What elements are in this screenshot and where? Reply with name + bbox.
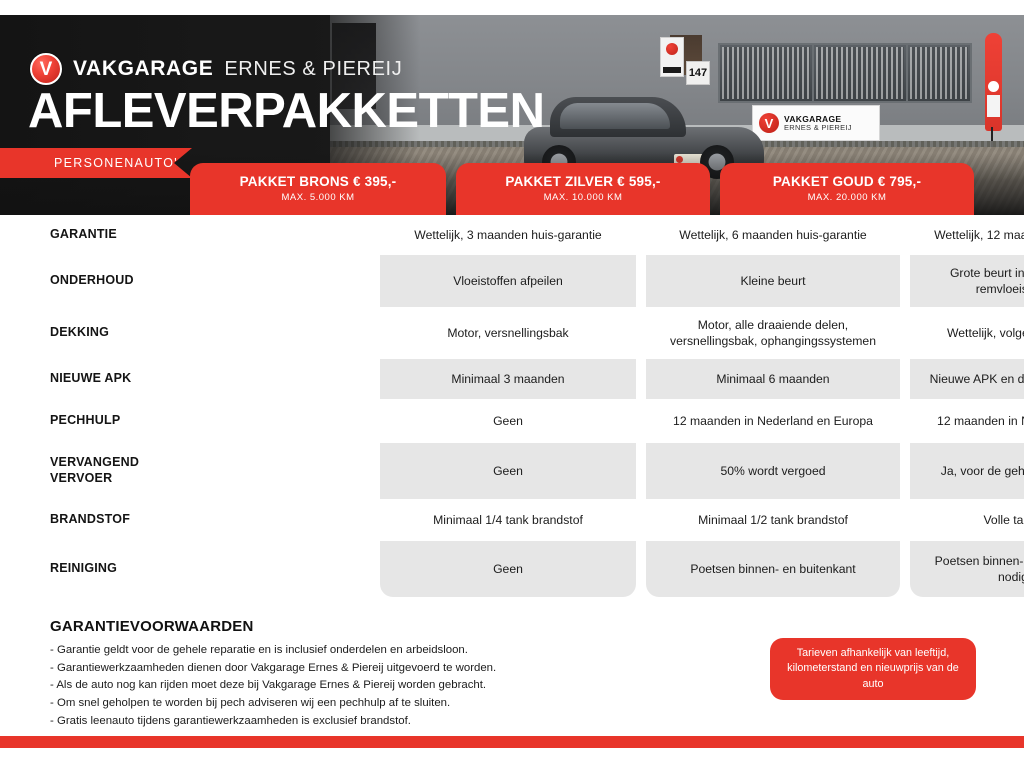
table-cell: Geen xyxy=(380,399,636,443)
shop-banner-sign: VAKGARAGE ERNES & PIEREIJ xyxy=(752,105,880,141)
package-header-goud[interactable]: PAKKET GOUD € 795,- MAX. 20.000 KM xyxy=(720,163,974,215)
list-item: - Garantiewerkzaamheden dienen door Vakg… xyxy=(50,660,610,678)
building-window xyxy=(906,43,972,103)
list-item: - Als de auto nog kan rijden moet deze b… xyxy=(50,677,610,695)
table-row: DEKKING Motor, versnellingsbak Motor, al… xyxy=(0,307,1024,359)
table-cell: Poetsen binnen- en buitenkant, indien no… xyxy=(910,541,1024,597)
table-row: VERVANGEND VERVOER Geen 50% wordt vergoe… xyxy=(0,443,1024,499)
package-header-row: PAKKET BRONS € 395,- MAX. 5.000 KM PAKKE… xyxy=(0,163,1024,215)
table-cell: Motor, alle draaiende delen, versnelling… xyxy=(646,307,900,359)
table-cell: Geen xyxy=(380,443,636,499)
page-title: AFLEVERPAKKETTEN xyxy=(28,87,545,136)
table-cell: Minimaal 3 maanden xyxy=(380,359,636,399)
table-cell: Motor, versnellingsbak xyxy=(380,307,636,359)
row-label: DEKKING xyxy=(0,307,190,359)
table-row: NIEUWE APK Minimaal 3 maanden Minimaal 6… xyxy=(0,359,1024,399)
row-label: GARANTIE xyxy=(0,215,190,255)
conditions-list: - Garantie geldt voor de gehele reparati… xyxy=(50,642,610,730)
table-cell: Volle tank brandstof xyxy=(910,499,1024,541)
table-row: GARANTIE Wettelijk, 3 maanden huis-garan… xyxy=(0,215,1024,255)
package-comparison-table: GARANTIE Wettelijk, 3 maanden huis-garan… xyxy=(0,215,1024,597)
table-cell: 12 maanden in Nederland en Europa xyxy=(646,399,900,443)
package-title: PAKKET ZILVER € 595,- xyxy=(505,174,660,190)
package-header-zilver[interactable]: PAKKET ZILVER € 595,- MAX. 10.000 KM xyxy=(456,163,710,215)
promo-flag xyxy=(985,33,1002,131)
certification-sign-icon xyxy=(660,37,684,77)
tariff-note-badge: Tarieven afhankelijk van leeftijd, kilom… xyxy=(770,638,976,700)
table-cell: Poetsen binnen- en buitenkant xyxy=(646,541,900,597)
table-cell: Wettelijk, volgens Bovag garantie xyxy=(910,307,1024,359)
package-mileage: MAX. 5.000 KM xyxy=(281,193,354,204)
package-header-brons[interactable]: PAKKET BRONS € 395,- MAX. 5.000 KM xyxy=(190,163,446,215)
row-label: REINIGING xyxy=(0,541,190,597)
row-label: PECHHULP xyxy=(0,399,190,443)
table-cell: Minimaal 1/4 tank brandstof xyxy=(380,499,636,541)
table-row: REINIGING Geen Poetsen binnen- en buiten… xyxy=(0,541,1024,597)
table-cell: Nieuwe APK en de volgende APK gratis xyxy=(910,359,1024,399)
list-item: - Om snel geholpen te worden bij pech ad… xyxy=(50,695,610,713)
bottom-red-bar xyxy=(0,736,1024,748)
list-item: - Garantie geldt voor de gehele reparati… xyxy=(50,642,610,660)
conditions-title: GARANTIEVOORWAARDEN xyxy=(50,618,610,635)
row-label: ONDERHOUD xyxy=(0,255,190,307)
table-cell: Wettelijk, 3 maanden huis-garantie xyxy=(380,215,636,255)
table-row: PECHHULP Geen 12 maanden in Nederland en… xyxy=(0,399,1024,443)
row-label: BRANDSTOF xyxy=(0,499,190,541)
brand-name-secondary: ERNES & PIEREIJ xyxy=(224,58,402,81)
table-row: BRANDSTOF Minimaal 1/4 tank brandstof Mi… xyxy=(0,499,1024,541)
table-cell: 12 maanden in Nederland en Europa xyxy=(910,399,1024,443)
table-cell: Wettelijk, 6 maanden huis-garantie xyxy=(646,215,900,255)
package-title: PAKKET GOUD € 795,- xyxy=(773,174,921,190)
table-cell: Kleine beurt xyxy=(646,255,900,307)
house-number-plate: 147 xyxy=(686,61,710,85)
row-label: NIEUWE APK xyxy=(0,359,190,399)
list-item: - Gratis leenauto tijdens garantiewerkza… xyxy=(50,713,610,731)
brand-name-primary: VAKGARAGE xyxy=(73,57,213,81)
shop-sign-secondary: ERNES & PIEREIJ xyxy=(784,124,852,132)
package-mileage: MAX. 10.000 KM xyxy=(544,193,623,204)
afleverpakketten-poster: 147 VAKGARAGE ERNES & PIEREIJ xyxy=(0,0,1024,768)
building-window xyxy=(812,43,908,103)
brand-lockup: VAKGARAGE ERNES & PIEREIJ xyxy=(30,53,402,85)
warranty-conditions: GARANTIEVOORWAARDEN - Garantie geldt voo… xyxy=(50,618,610,730)
bottom-white-strip xyxy=(0,748,1024,768)
package-mileage: MAX. 20.000 KM xyxy=(808,193,887,204)
table-row: ONDERHOUD Vloeistoffen afpeilen Kleine b… xyxy=(0,255,1024,307)
table-cell: Vloeistoffen afpeilen xyxy=(380,255,636,307)
top-white-strip xyxy=(0,0,1024,15)
table-cell: Grote beurt inclusief aircocheck, remvlo… xyxy=(910,255,1024,307)
table-cell: Ja, voor de gehele reparatieperiode xyxy=(910,443,1024,499)
table-cell: Wettelijk, 12 maanden Bovag garantie xyxy=(910,215,1024,255)
table-cell: Geen xyxy=(380,541,636,597)
table-cell: Minimaal 6 maanden xyxy=(646,359,900,399)
package-title: PAKKET BRONS € 395,- xyxy=(240,174,397,190)
vakgarage-v-logo-icon xyxy=(30,53,62,85)
row-label: VERVANGEND VERVOER xyxy=(0,443,190,499)
table-cell: 50% wordt vergoed xyxy=(646,443,900,499)
table-cell: Minimaal 1/2 tank brandstof xyxy=(646,499,900,541)
